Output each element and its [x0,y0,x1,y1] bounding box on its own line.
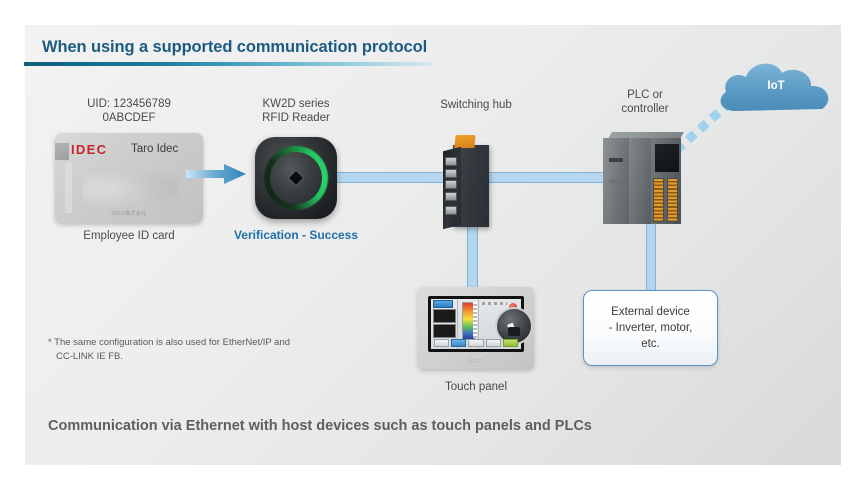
uid-line-2: 0ABCDEF [55,111,203,125]
hub-rj45-port [445,169,457,178]
gauge-hub [508,327,520,336]
card-watermark [83,167,179,207]
footnote: * The same configuration is also used fo… [48,336,378,364]
screen-key [486,339,501,347]
iot-cloud-label: IoT [712,80,840,92]
footnote-line-1: * The same configuration is also used fo… [48,337,290,348]
touch-panel-brand: IDEC [418,359,534,365]
card-fineprint: IDEC株式会社 [55,210,203,217]
uid-line-1: UID: 123456789 [55,97,203,111]
hub-rj45-port [445,206,457,215]
reader-label-line-2: RFID Reader [246,111,346,125]
screen-key-selected [451,339,466,347]
hub-rj45-port [445,192,457,201]
hub-rj45-port [445,180,457,189]
diagram-root: When using a supported communication pro… [0,0,868,486]
external-line-3: etc. [641,338,660,350]
bottom-caption: Communication via Ethernet with host dev… [48,418,592,434]
touch-panel: IDEC [418,287,534,369]
plc-label-line-2: controller [595,102,695,116]
external-device-text: External device - Inverter, motor, etc. [609,304,693,352]
screen-key [434,339,449,347]
plc-controller [603,132,687,224]
screen-header-rule [482,302,507,305]
plc-module-center [629,138,651,224]
plc-terminal-block [667,178,678,222]
title-divider [24,62,432,66]
screen-camera-tile [433,324,456,338]
footnote-line-2: CC-LINK IE FB. [48,350,378,364]
reader-label-line-1: KW2D series [246,97,346,111]
hub-rj45-port [445,157,457,166]
card-holder-name: Taro Idec [131,143,178,155]
plc-display-window [655,144,679,172]
rfid-reader [255,137,337,219]
screen-scale-ticks [473,302,477,338]
plc-terminal-block [653,178,664,222]
plc-connector-slot [609,158,623,162]
hub-port-group [445,157,457,217]
page-title: When using a supported communication pro… [42,38,427,57]
hub-label: Switching hub [421,98,531,112]
plc-connector-slot [609,180,623,183]
iot-cloud: IoT [712,55,840,117]
touch-panel-bezel [428,296,524,352]
cable-hub-to-plc [478,172,613,183]
verification-status: Verification - Success [226,228,366,242]
screen-key-start [503,339,518,347]
hub-power-terminal [454,135,475,148]
external-line-2: - Inverter, motor, [609,322,693,334]
switching-hub [443,135,489,227]
card-chip-icon [55,143,69,160]
employee-id-card: IDEC Taro Idec IDEC株式会社 [55,133,203,223]
card-brand-logo: IDEC [71,142,107,157]
external-line-1: External device [611,306,690,318]
screen-key [468,339,483,347]
plc-label-line-1: PLC or [595,88,695,102]
cable-plc-to-external [646,218,656,294]
touch-panel-screen [431,299,521,349]
card-caption: Employee ID card [55,229,203,243]
screen-button-row [434,339,518,347]
screen-title-bar [433,300,453,308]
screen-camera-tile [433,309,456,323]
arrow-right-icon [186,163,248,185]
cable-reader-to-hub [330,172,455,183]
touch-panel-label: Touch panel [418,380,534,394]
external-device-box: External device - Inverter, motor, etc. [583,290,718,366]
card-stripe [65,163,72,213]
